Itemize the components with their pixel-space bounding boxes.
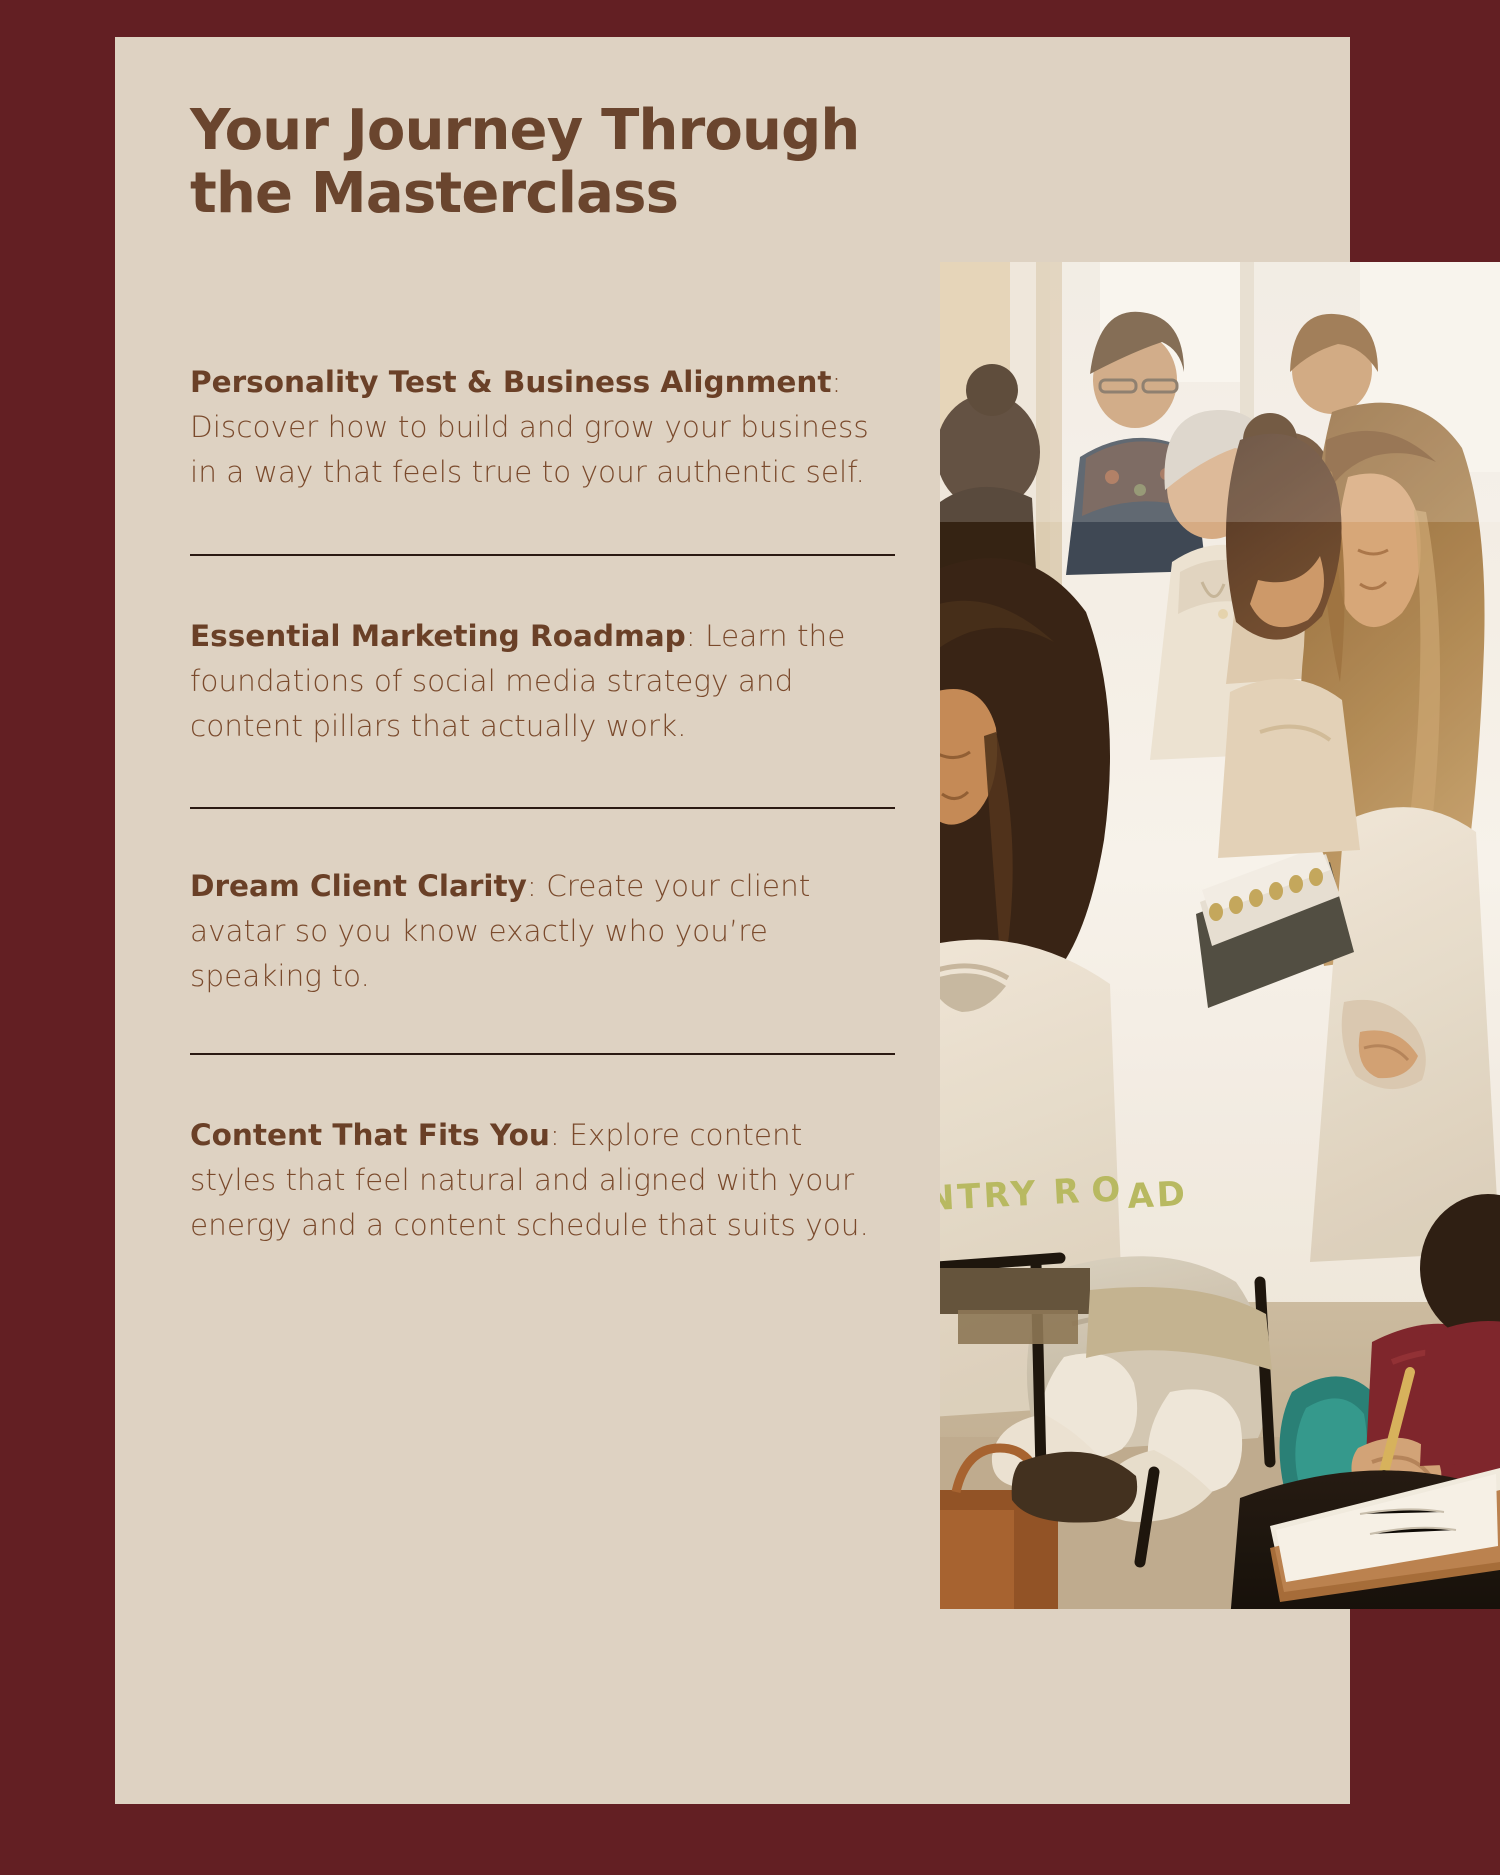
list-item: Essential Marketing Roadmap: Learn the f… <box>190 556 895 806</box>
page-title-line-2: the Masterclass <box>190 163 890 226</box>
list-item: Dream Client Clarity: Create your client… <box>190 809 895 1053</box>
list-item-text: Essential Marketing Roadmap: Learn the f… <box>190 614 895 748</box>
poster-page: Your Journey Through the Masterclass Per… <box>0 0 1500 1875</box>
list-item-body: Discover how to build and grow your busi… <box>190 410 869 489</box>
list-item-label: Personality Test & Business Alignment <box>190 365 831 399</box>
list-item-text: Dream Client Clarity: Create your client… <box>190 864 895 998</box>
curriculum-list: Personality Test & Business Alignment: D… <box>190 360 895 1248</box>
list-item-separator: : <box>550 1118 569 1152</box>
page-title-line-1: Your Journey Through <box>190 100 890 163</box>
list-item-text: Personality Test & Business Alignment: D… <box>190 360 895 494</box>
workshop-photo: UNTRY R O AD <box>940 262 1500 1609</box>
list-item-label: Dream Client Clarity <box>190 869 527 903</box>
list-item-separator: : <box>686 619 705 653</box>
page-title: Your Journey Through the Masterclass <box>190 100 890 225</box>
list-item: Content That Fits You: Explore content s… <box>190 1055 895 1247</box>
list-item-text: Content That Fits You: Explore content s… <box>190 1113 895 1247</box>
list-item-label: Essential Marketing Roadmap <box>190 619 686 653</box>
list-item-label: Content That Fits You <box>190 1118 550 1152</box>
list-item-separator: : <box>527 869 546 903</box>
list-item: Personality Test & Business Alignment: D… <box>190 360 895 554</box>
list-item-separator: : <box>831 365 841 399</box>
